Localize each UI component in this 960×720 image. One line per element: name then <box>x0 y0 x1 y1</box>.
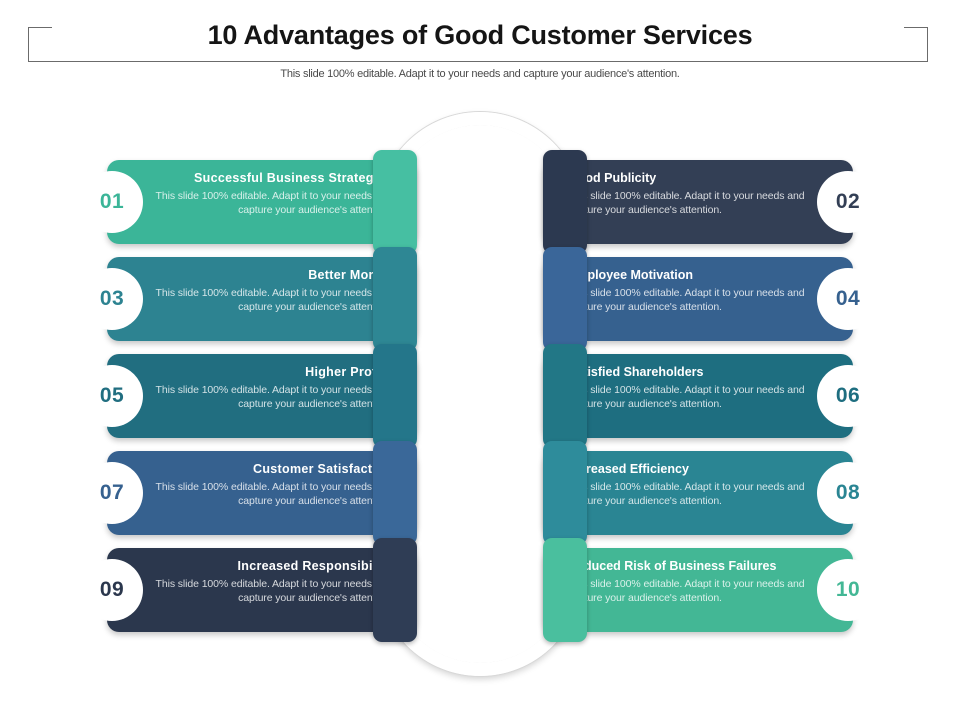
advantage-number-badge: 02 <box>817 171 879 233</box>
advantage-card-10[interactable]: Reduced Risk of Business FailuresThis sl… <box>543 548 853 632</box>
advantage-number-badge: 03 <box>81 268 143 330</box>
advantage-row: Increased EfficiencyThis slide 100% edit… <box>0 451 960 535</box>
advantage-title: Reduced Risk of Business Failures <box>568 558 806 574</box>
advantage-description: This slide 100% editable. Adapt it to yo… <box>568 286 806 314</box>
advantage-card-text: Good PublicityThis slide 100% editable. … <box>568 170 806 234</box>
chain-link-clip <box>543 441 587 545</box>
advantage-number-badge: 08 <box>817 462 879 524</box>
advantage-number-badge: 04 <box>817 268 879 330</box>
advantage-title: Good Publicity <box>568 170 806 186</box>
advantage-card-text: Employee MotivationThis slide 100% edita… <box>568 267 806 331</box>
advantage-row: Employee MotivationThis slide 100% edita… <box>0 257 960 341</box>
advantage-row: Reduced Risk of Business FailuresThis sl… <box>0 548 960 632</box>
advantage-card-06[interactable]: Satisfied ShareholdersThis slide 100% ed… <box>543 354 853 438</box>
advantage-row: Satisfied ShareholdersThis slide 100% ed… <box>0 354 960 438</box>
chain-link-clip <box>373 538 417 642</box>
advantage-title: Satisfied Shareholders <box>568 364 806 380</box>
chain-link-clip <box>543 150 587 254</box>
advantage-number-badge: 06 <box>817 365 879 427</box>
slide-canvas: 10 Advantages of Good Customer Services … <box>0 0 960 720</box>
advantages-list: Successful Business StrategiesThis slide… <box>0 0 960 720</box>
advantage-card-text: Satisfied ShareholdersThis slide 100% ed… <box>568 364 806 428</box>
advantage-row: Good PublicityThis slide 100% editable. … <box>0 160 960 244</box>
advantage-number-badge: 05 <box>81 365 143 427</box>
advantage-description: This slide 100% editable. Adapt it to yo… <box>568 189 806 217</box>
advantage-description: This slide 100% editable. Adapt it to yo… <box>568 383 806 411</box>
chain-link-clip <box>543 538 587 642</box>
chain-link-clip <box>373 247 417 351</box>
advantage-card-text: Increased EfficiencyThis slide 100% edit… <box>568 461 806 525</box>
chain-link-clip <box>373 441 417 545</box>
advantage-number-badge: 09 <box>81 559 143 621</box>
advantage-number-badge: 07 <box>81 462 143 524</box>
chain-link-clip <box>373 150 417 254</box>
advantage-card-04[interactable]: Employee MotivationThis slide 100% edita… <box>543 257 853 341</box>
advantage-card-text: Reduced Risk of Business FailuresThis sl… <box>568 558 806 622</box>
advantage-title: Employee Motivation <box>568 267 806 283</box>
advantage-card-08[interactable]: Increased EfficiencyThis slide 100% edit… <box>543 451 853 535</box>
advantage-number-badge: 10 <box>817 559 879 621</box>
advantage-description: This slide 100% editable. Adapt it to yo… <box>568 480 806 508</box>
advantage-card-02[interactable]: Good PublicityThis slide 100% editable. … <box>543 160 853 244</box>
page-title: 10 Advantages of Good Customer Services <box>0 20 960 51</box>
chain-link-clip <box>373 344 417 448</box>
chain-link-clip <box>543 344 587 448</box>
advantage-description: This slide 100% editable. Adapt it to yo… <box>568 577 806 605</box>
chain-link-clip <box>543 247 587 351</box>
advantage-title: Increased Efficiency <box>568 461 806 477</box>
advantage-number-badge: 01 <box>81 171 143 233</box>
